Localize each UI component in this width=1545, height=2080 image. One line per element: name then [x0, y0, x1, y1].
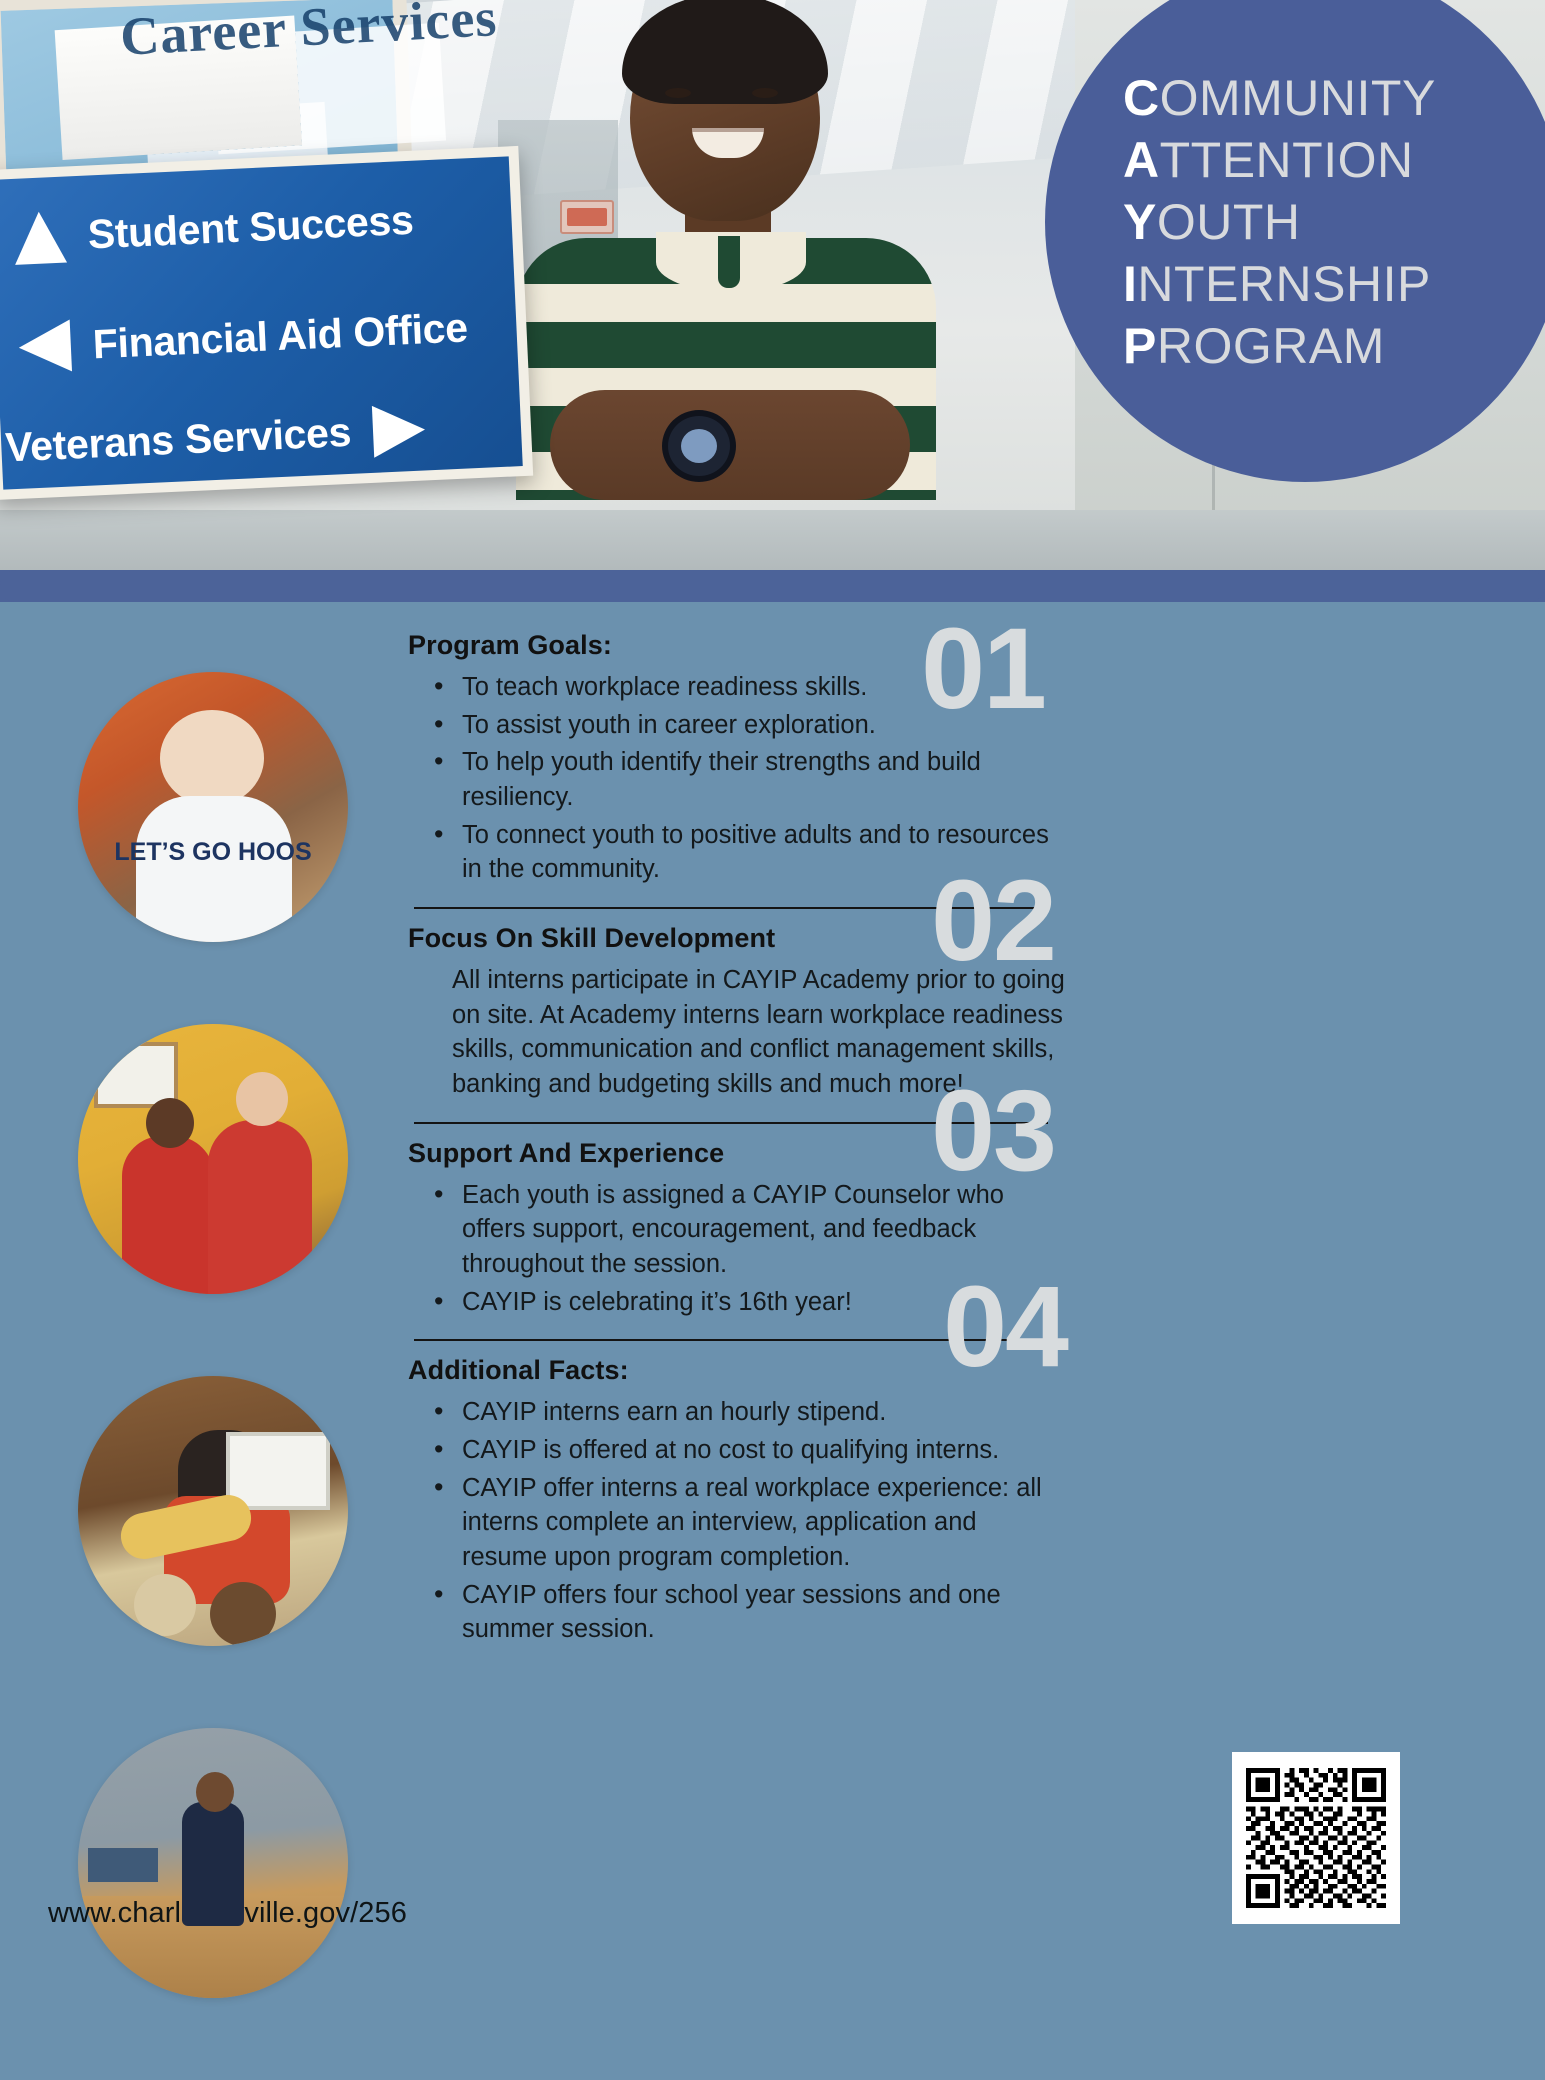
arrow-left-icon	[0, 319, 94, 375]
hero-divider-right-cap	[1481, 570, 1545, 602]
photo-1-shirt-text: LET’S GO HOOS	[78, 840, 348, 864]
badge-initial-i: I	[1123, 256, 1137, 312]
badge-initial-y: Y	[1123, 194, 1157, 250]
student-hair	[622, 0, 828, 104]
badge-initial-c: C	[1123, 70, 1160, 126]
student-eye-right	[752, 88, 778, 98]
sign-row-student-success: Student Success	[0, 164, 514, 291]
list-item: To help youth identify their strengths a…	[426, 745, 1068, 814]
badge-rest-internship: NTERNSHIP	[1137, 256, 1430, 312]
step-number-04: 04	[943, 1270, 1067, 1385]
photo-thumbnail-1: LET’S GO HOOS	[78, 672, 348, 942]
student-photo-figure	[480, 0, 950, 500]
badge-rest-program: ROGRAM	[1157, 318, 1385, 374]
qr-code-icon[interactable]	[1246, 1766, 1386, 1910]
badge-initial-p: P	[1123, 318, 1157, 374]
badge-line-internship: INTERNSHIP	[1123, 253, 1541, 315]
badge-line-community: COMMUNITY	[1123, 67, 1541, 129]
main-content: LET’S GO HOOS Program Goals: To teach wo…	[0, 602, 1545, 2000]
list-item: CAYIP is offered at no cost to qualifyin…	[426, 1433, 1068, 1468]
student-collar	[656, 232, 806, 292]
badge-rest-attention: TTENTION	[1160, 132, 1414, 188]
list-item: CAYIP interns earn an hourly stipend.	[426, 1395, 1068, 1430]
photo-thumbnail-3	[78, 1376, 348, 1646]
wristwatch-icon	[662, 410, 736, 482]
badge-line-attention: ATTENTION	[1123, 129, 1541, 191]
section-4-list: CAYIP interns earn an hourly stipend. CA…	[426, 1395, 1068, 1647]
sign-label-veterans-services: Veterans Services	[4, 409, 352, 472]
badge-line-youth: YOUTH	[1123, 191, 1541, 253]
photo-thumbnail-4	[78, 1728, 348, 1998]
sign-label-student-success: Student Success	[87, 197, 415, 259]
hero-banner: Career Services Student Success	[0, 0, 1545, 600]
hero-divider-bar	[0, 570, 1545, 602]
list-item: CAYIP offer interns a real workplace exp…	[426, 1471, 1068, 1575]
badge-line-program: PROGRAM	[1123, 315, 1541, 377]
step-number-02: 02	[931, 864, 1055, 979]
qr-code-container[interactable]	[1232, 1752, 1400, 1924]
arrow-up-icon	[0, 209, 89, 265]
hero-divider-left-cap	[0, 570, 40, 602]
directional-sign: Student Success Financial Aid Office Vet…	[0, 146, 533, 500]
badge-rest-community: OMMUNITY	[1160, 70, 1436, 126]
badge-initial-a: A	[1123, 132, 1160, 188]
section-additional-facts: Additional Facts: CAYIP interns earn an …	[408, 1355, 1068, 1647]
photo-thumbnail-2	[78, 1024, 348, 1294]
student-eye-left	[665, 88, 691, 98]
step-number-01: 01	[921, 612, 1045, 727]
photo-column: LET’S GO HOOS	[78, 672, 358, 2080]
list-item: CAYIP offers four school year sessions a…	[426, 1578, 1068, 1647]
badge-rest-youth: OUTH	[1157, 194, 1301, 250]
step-number-03: 03	[931, 1074, 1055, 1189]
arrow-right-icon	[350, 402, 448, 458]
sign-label-financial-aid: Financial Aid Office	[92, 304, 469, 368]
